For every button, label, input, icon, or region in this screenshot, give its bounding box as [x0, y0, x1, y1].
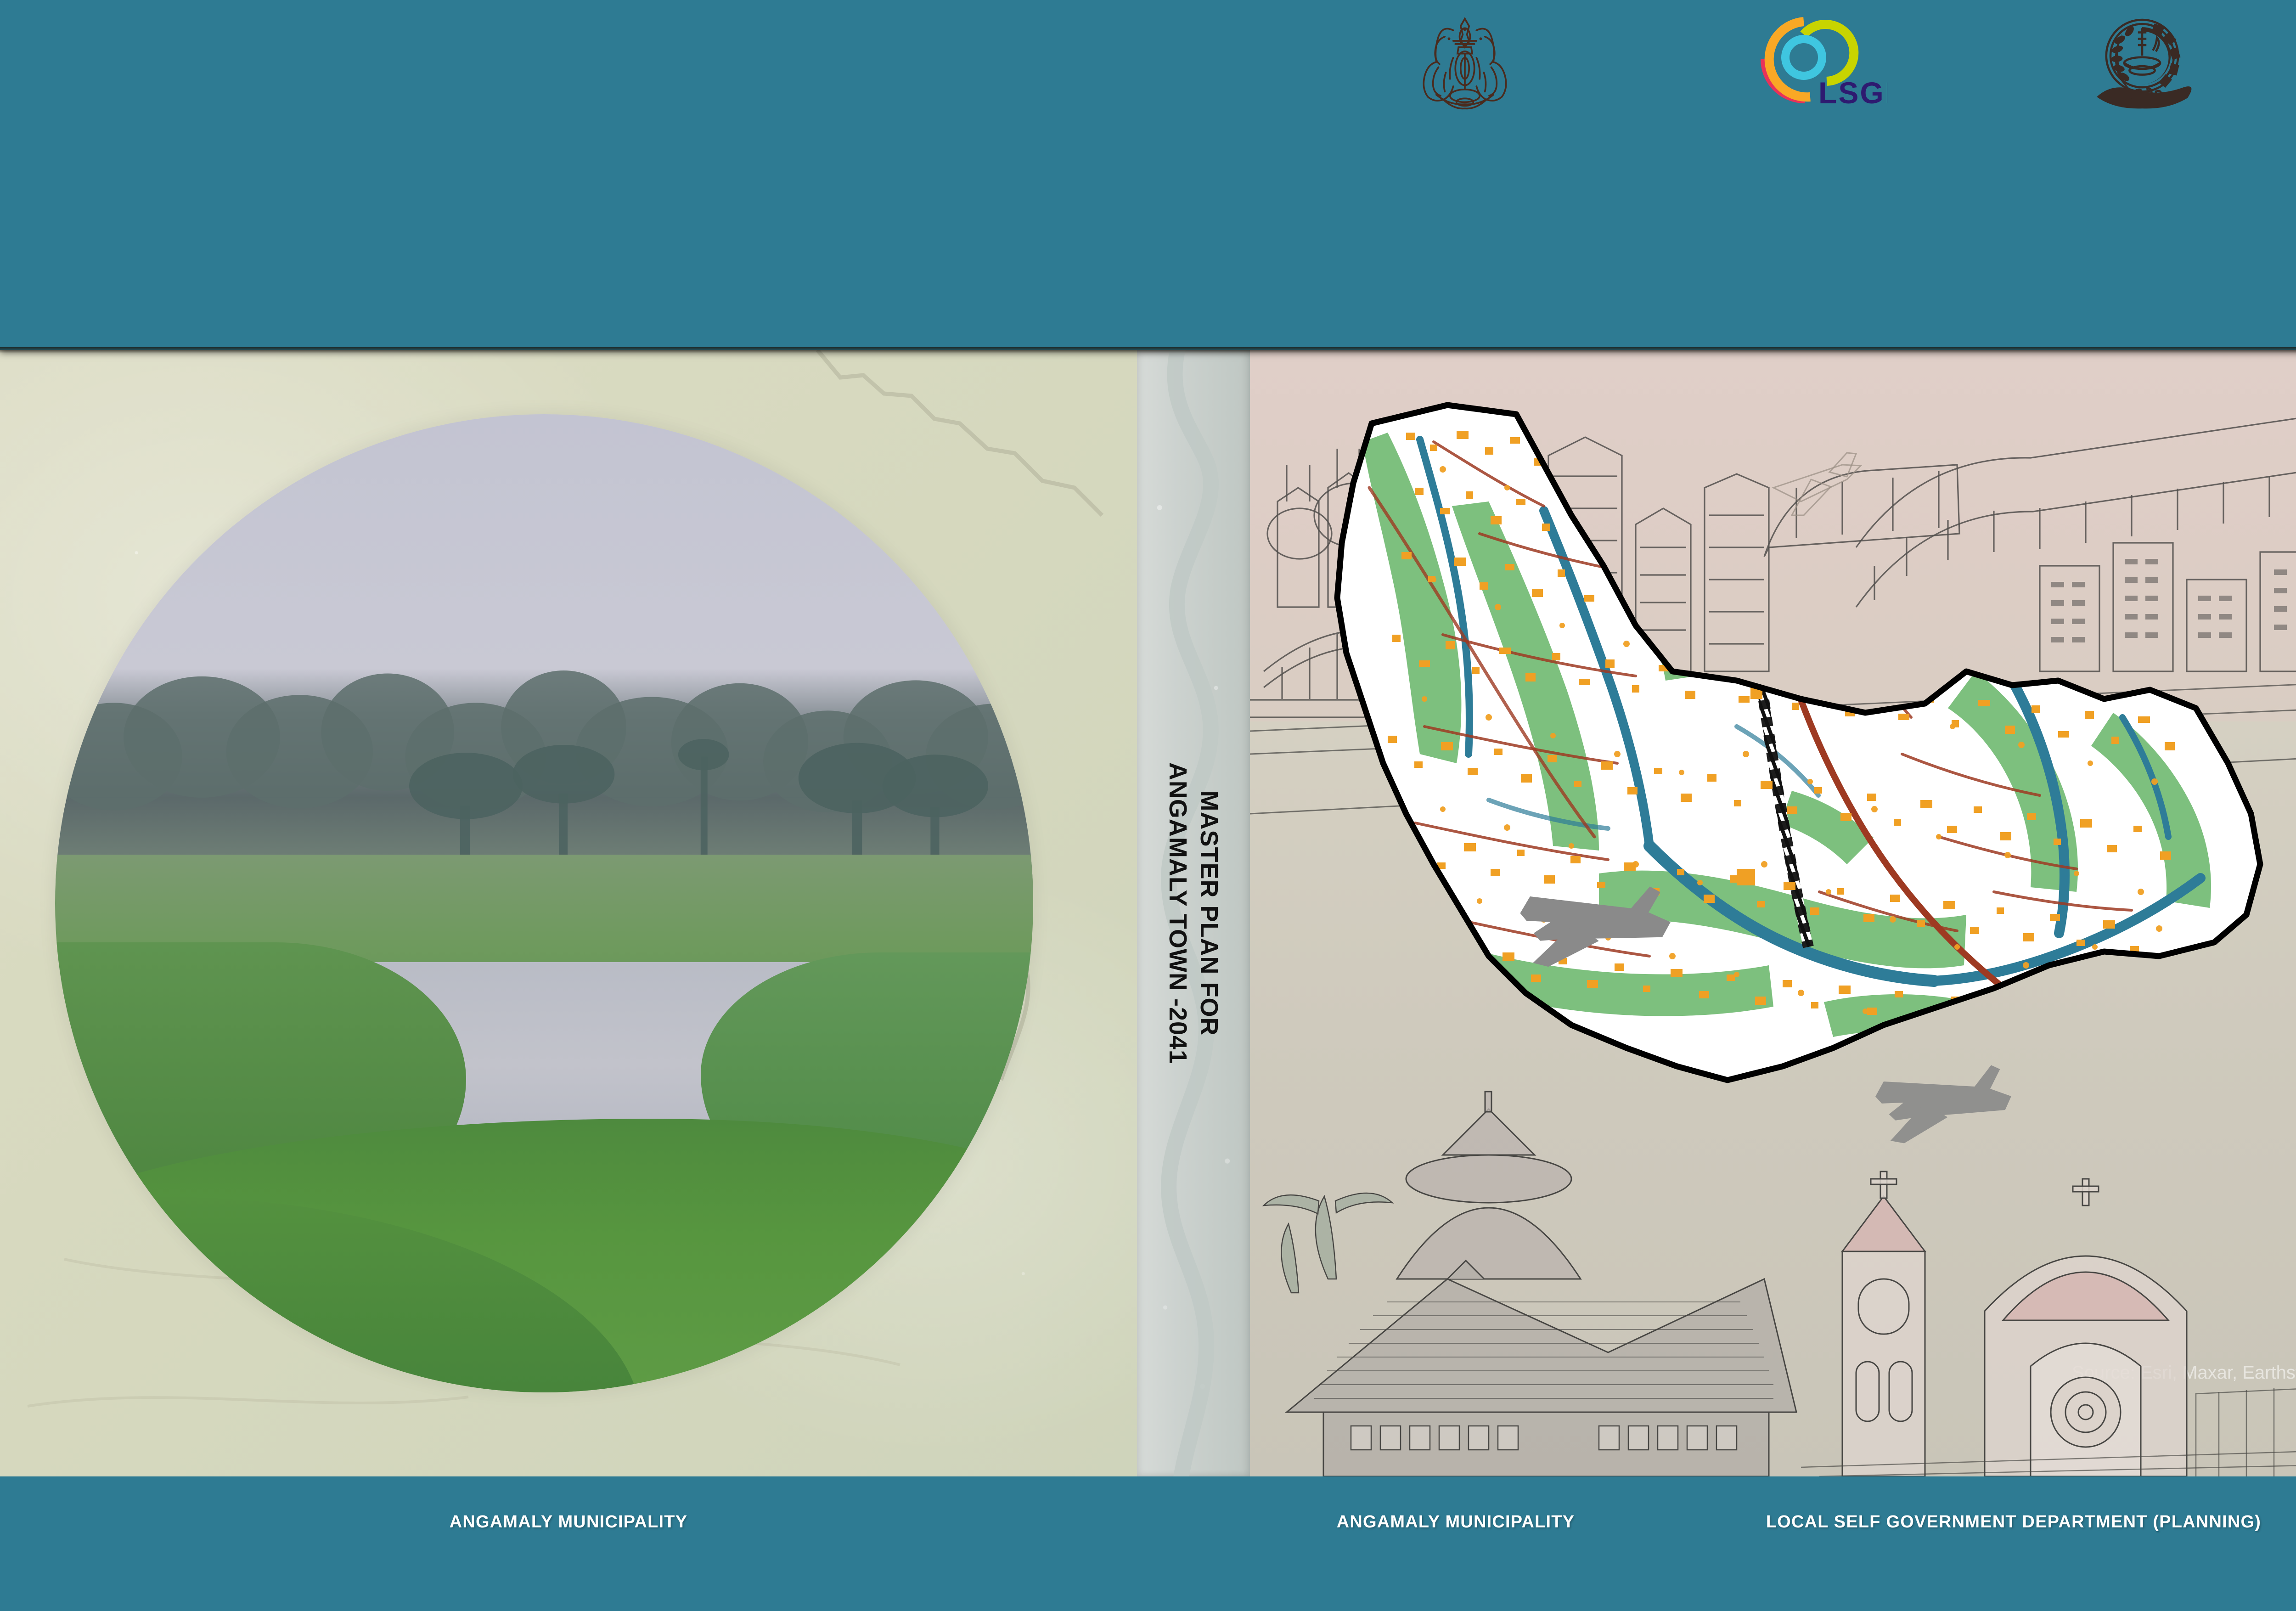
header-shadow [0, 347, 2296, 353]
heritage-buildings-sketch [1250, 1063, 2296, 1476]
kerala-government-emblem-icon [1412, 9, 1518, 115]
spine-line-1: MASTER PLAN FOR [1193, 790, 1225, 1036]
lsgd-wordmark: LSGD [1818, 76, 1887, 110]
book-cover-spread: MASTER PLAN FOR ANGAMALY TOWN -2041 [0, 0, 2296, 1611]
front-cover-panel: Source: Esri, Maxar, Earthstar [1250, 350, 2296, 1476]
footer-band: ANGAMALY MUNICIPALITY ANGAMALY MUNICIPAL… [0, 1476, 2296, 1611]
spine-line-2: ANGAMALY TOWN -2041 [1163, 762, 1194, 1064]
back-cover-photo [55, 414, 1033, 1392]
spine-text-block: MASTER PLAN FOR ANGAMALY TOWN -2041 [1137, 350, 1250, 1476]
back-cover-panel [0, 350, 1137, 1476]
spine-panel: MASTER PLAN FOR ANGAMALY TOWN -2041 [1137, 350, 1250, 1476]
lsgd-logo-icon: LSGD [1750, 11, 1887, 110]
footer-department-label: LOCAL SELF GOVERNMENT DEPARTMENT (PLANNI… [1662, 1512, 2296, 1532]
angamaly-municipality-emblem-icon [2085, 9, 2200, 115]
footer-municipality-label: ANGAMALY MUNICIPALITY [1203, 1512, 1708, 1532]
footer-back-label: ANGAMALY MUNICIPALITY [0, 1512, 1137, 1532]
header-band [0, 0, 2296, 350]
airplane-icon [1866, 1063, 2017, 1166]
